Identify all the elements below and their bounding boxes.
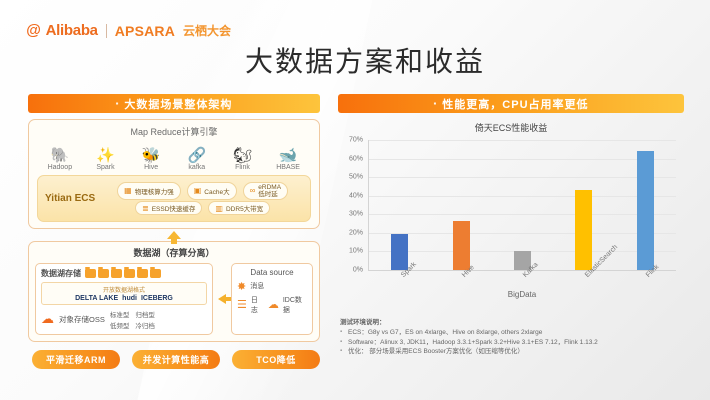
yitian-feature-row: ≣ ESSD快速缓存 ▥ DDR5大带宽: [102, 201, 303, 215]
chart-bar-cell: [433, 140, 488, 270]
engine-logo-label: Hive: [144, 164, 158, 171]
chip-memory-icon: ▥: [215, 204, 223, 213]
chart-bar-cell: [556, 140, 611, 270]
delta-lake-logo: DELTA LAKE: [75, 295, 118, 302]
yitian-feature-grid: ▦ 物理核算力强 ▣ Cache大 ∞ eRDMA 低时延: [102, 180, 303, 217]
chart-x-axis-title: BigData: [368, 290, 676, 299]
chart-x-label-cell: Kafka: [495, 272, 550, 306]
compute-engine-caption: Map Reduce计算引擎: [37, 125, 311, 138]
folder-icon: [150, 269, 161, 278]
chip-network-icon: ∞: [250, 186, 256, 195]
idc-cloud-icon: ☁: [268, 298, 279, 311]
note-item: Software：Alinux 3, JDK11，Hadoop 3.3.1+Sp…: [340, 338, 684, 348]
hudi-logo: hudi: [122, 295, 137, 302]
spark-icon: ✨: [96, 148, 115, 163]
iceberg-logo: ICEBERG: [141, 295, 173, 302]
architecture-panel-title: 大数据场景整体架构: [124, 96, 232, 112]
chip-label-line1: eRDMA: [258, 184, 281, 191]
data-lake-storage-box: 数据湖存储 开放数据湖格式 DELTA LAK: [35, 263, 213, 335]
notes-title: 测试环境说明：: [340, 316, 684, 326]
engine-logo-label: Hadoop: [48, 164, 73, 171]
chart-bar-cell: [495, 140, 550, 270]
chart-y-tick: 30%: [349, 211, 363, 218]
brand-name: Alibaba: [46, 22, 98, 39]
engine-logo-item: ✨ Spark: [83, 148, 127, 171]
engine-logo-label: kafka: [188, 164, 205, 171]
hbase-icon: 🐋: [279, 148, 298, 163]
note-item: 优化： 部分场景采用ECS Booster方案优化（如压缩等优化）: [340, 347, 684, 357]
engine-logo-item: 🐿 Flink: [220, 148, 264, 171]
chart-x-label-cell: ElasticSearch: [556, 272, 611, 306]
data-lake-box: 数据湖（存算分离） 数据湖存储: [28, 241, 320, 342]
engine-logo-item: 🐝 Hive: [129, 148, 173, 171]
open-format-box: 开放数据湖格式 DELTA LAKE hudi ICEBERG: [41, 282, 207, 305]
oss-tier: 冷归档: [135, 320, 155, 330]
data-source-item: ☰ 日志 ☁ IDC数据: [237, 295, 307, 315]
chart-y-tick: 60%: [349, 155, 363, 162]
chart-x-tick-labels: SparkHiveKafkaElasticSearchFlink: [369, 272, 676, 306]
folder-icon: [85, 269, 96, 278]
chip-label: Cache大: [204, 186, 229, 196]
feature-chip-erdma: ∞ eRDMA 低时延: [243, 182, 288, 200]
feature-chip-ddr5: ▥ DDR5大带宽: [208, 201, 270, 215]
data-source-caption: Data source: [237, 268, 307, 277]
bullet-icon: ▪: [433, 99, 437, 108]
data-lake-caption: 数据湖（存算分离）: [35, 246, 313, 259]
architecture-panel: ▪ 大数据场景整体架构 Map Reduce计算引擎 🐘 Hadoop ✨ Sp…: [28, 94, 320, 369]
benefit-pill-arm[interactable]: 平滑迁移ARM: [32, 350, 120, 369]
oss-label: 对象存储OSS: [59, 314, 105, 325]
chart-bar-cell: [618, 140, 673, 270]
feature-chip-cache: ▣ Cache大: [187, 182, 237, 200]
open-format-caption: 开放数据湖格式: [45, 285, 203, 294]
chart-y-tick: 10%: [349, 248, 363, 255]
up-arrow-icon: [167, 231, 181, 239]
storage-title: 数据湖存储: [41, 268, 81, 279]
chip-label-line2: 低时延: [258, 191, 281, 198]
chart-y-tick: 40%: [349, 192, 363, 199]
folder-icon: [124, 269, 135, 278]
hive-icon: 🐝: [142, 148, 161, 163]
chart-bar[interactable]: [575, 190, 592, 270]
oss-row: ☁ 对象存储OSS 标准型 低频型 归档型 冷归档: [41, 309, 207, 330]
chip-cache-icon: ▣: [194, 186, 202, 195]
engine-logo-label: HBASE: [276, 164, 300, 171]
chip-disk-icon: ≣: [142, 204, 149, 213]
page-title: 大数据方案和收益: [245, 40, 485, 80]
benefit-pill-tco[interactable]: TCO降低: [232, 350, 320, 369]
chart-bar[interactable]: [453, 221, 470, 270]
chart-y-axis: 0%10%20%30%40%50%60%70%: [338, 140, 366, 270]
message-icon: ✸: [237, 280, 246, 293]
brand-divider: [106, 24, 107, 38]
log-icon: ☰: [237, 298, 247, 311]
chart-y-tick: 70%: [349, 137, 363, 144]
chart-x-label-cell: Spark: [372, 272, 427, 306]
compute-engine-box: Map Reduce计算引擎 🐘 Hadoop ✨ Spark 🐝 Hive 🔗…: [28, 119, 320, 229]
oss-tier: 归档型: [135, 309, 155, 319]
note-item: ECS：G8y vs G7，ES on 4xlarge、Hive on 8xla…: [340, 328, 684, 338]
brand-logo: @ Alibaba APSARA 云栖大会: [26, 22, 231, 39]
engine-logo-label: Spark: [96, 164, 114, 171]
folder-icon: [98, 269, 109, 278]
yitian-ecs-box: Yitian ECS ▦ 物理核算力强 ▣ Cache大 ∞: [37, 175, 311, 222]
chart-bars: [369, 140, 676, 270]
bullet-icon: ▪: [116, 99, 120, 108]
feature-chip-physical-core: ▦ 物理核算力强: [117, 182, 181, 200]
data-source-box: Data source ✸ 消息 ☰ 日志 ☁ IDC数据: [231, 263, 313, 335]
data-source-label: 消息: [250, 281, 264, 291]
chart-y-tick: 0%: [353, 267, 363, 274]
engine-logo-item: 🔗 kafka: [175, 148, 219, 171]
data-source-label: 日志: [251, 295, 264, 315]
oss-cloud-icon: ☁: [41, 311, 54, 327]
chip-label: 物理核算力强: [135, 186, 174, 196]
kafka-icon: 🔗: [187, 148, 206, 163]
engine-logo-label: Flink: [235, 164, 250, 171]
engine-logo-item: 🐘 Hadoop: [38, 148, 82, 171]
chart-bar-cell: [372, 140, 427, 270]
chart-y-tick: 50%: [349, 174, 363, 181]
chart-title: 倚天ECS性能收益: [338, 121, 684, 134]
chip-label: ESSD快速缓存: [152, 203, 196, 213]
flink-icon: 🐿: [233, 148, 252, 163]
chart-x-label-cell: Hive: [433, 272, 488, 306]
chart-bar[interactable]: [637, 151, 654, 270]
oss-tier: 标准型: [110, 309, 130, 319]
oss-tier: 低频型: [110, 320, 130, 330]
bar-chart: 0%10%20%30%40%50%60%70% SparkHiveKafkaEl…: [338, 140, 684, 290]
brand-cn-name: 云栖大会: [183, 22, 231, 39]
performance-panel-title: 性能更高，CPU占用率更低: [442, 96, 588, 112]
chart-y-tick: 20%: [349, 229, 363, 236]
performance-panel: ▪ 性能更高，CPU占用率更低 倚天ECS性能收益 0%10%20%30%40%…: [338, 94, 684, 290]
architecture-panel-header: ▪ 大数据场景整体架构: [28, 94, 320, 113]
performance-panel-header: ▪ 性能更高，CPU占用率更低: [338, 94, 684, 113]
architecture-diagram: Map Reduce计算引擎 🐘 Hadoop ✨ Spark 🐝 Hive 🔗…: [28, 119, 320, 369]
left-arrow-icon: [218, 294, 226, 304]
folder-icon: [111, 269, 122, 278]
folder-icon: [137, 269, 148, 278]
chart-x-axis-line: [368, 270, 676, 271]
engine-logo-list: 🐘 Hadoop ✨ Spark 🐝 Hive 🔗 kafka 🐿: [37, 141, 311, 171]
chip-label: DDR5大带宽: [226, 203, 263, 213]
yitian-feature-row: ▦ 物理核算力强 ▣ Cache大 ∞ eRDMA 低时延: [102, 182, 303, 200]
test-environment-notes: 测试环境说明： ECS：G8y vs G7，ES on 4xlarge、Hive…: [340, 316, 684, 357]
yitian-ecs-label: Yitian ECS: [45, 193, 95, 204]
benefit-pill-row: 平滑迁移ARM 并发计算性能高 TCO降低: [28, 350, 320, 369]
brand-product: APSARA: [115, 23, 175, 39]
chart-x-label-cell: Flink: [618, 272, 673, 306]
alibaba-mark-icon: @: [26, 23, 41, 38]
feature-chip-essd: ≣ ESSD快速缓存: [135, 201, 202, 215]
chip-cpu-icon: ▦: [124, 186, 132, 195]
benefit-pill-performance[interactable]: 并发计算性能高: [132, 350, 220, 369]
chart-bar[interactable]: [391, 234, 408, 270]
data-source-label: IDC数据: [283, 295, 307, 315]
engine-logo-item: 🐋 HBASE: [266, 148, 310, 171]
hadoop-icon: 🐘: [50, 148, 69, 163]
folder-icon-group: [85, 269, 161, 278]
data-source-item: ✸ 消息: [237, 280, 307, 293]
